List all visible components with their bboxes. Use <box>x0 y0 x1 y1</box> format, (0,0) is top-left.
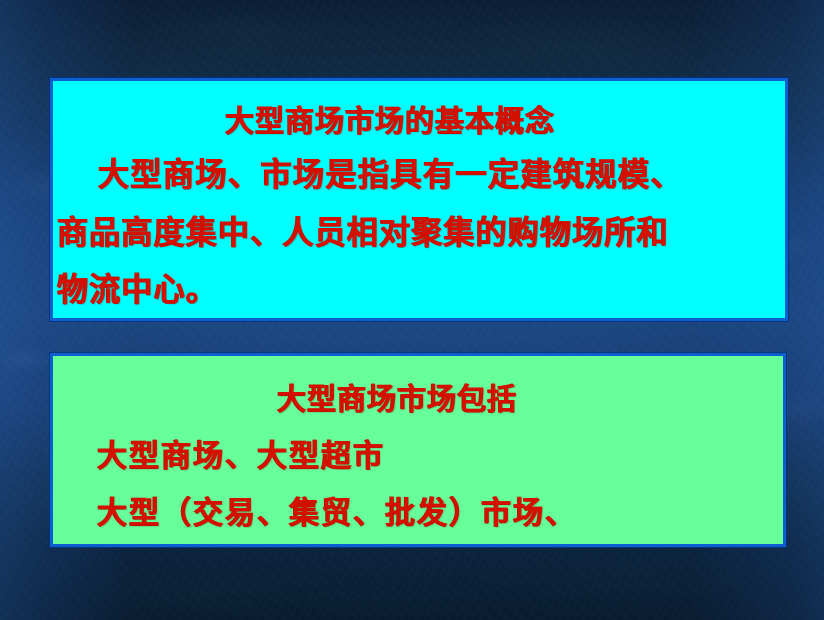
concept-panel-line-1: 大型商场、市场是指具有一定建筑规模、 <box>98 148 683 195</box>
concept-panel-title: 大型商场市场的基本概念 <box>225 97 555 141</box>
concept-panel: 大型商场市场的基本概念 大型商场、市场是指具有一定建筑规模、 商品高度集中、人员… <box>50 78 788 321</box>
concept-panel-line-2: 商品高度集中、人员相对聚集的购物场所和 <box>57 206 669 253</box>
scope-panel-line-1: 大型商场、大型超市 <box>97 430 385 476</box>
scope-panel: 大型商场市场包括 大型商场、大型超市 大型（交易、集贸、批发）市场、 <box>50 353 786 547</box>
concept-panel-line-3: 物流中心。 <box>57 263 218 310</box>
slide-canvas: 大型商场市场的基本概念 大型商场、市场是指具有一定建筑规模、 商品高度集中、人员… <box>0 0 824 620</box>
scope-panel-line-2: 大型（交易、集贸、批发）市场、 <box>97 487 577 533</box>
scope-panel-title: 大型商场市场包括 <box>277 375 517 419</box>
